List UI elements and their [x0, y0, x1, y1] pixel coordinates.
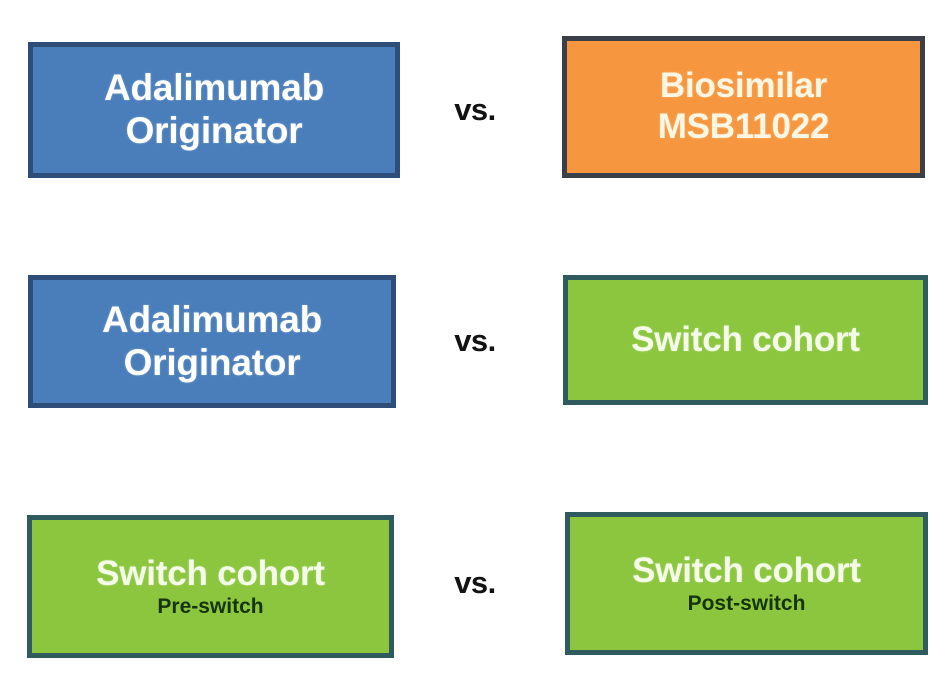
comparison-row-2: Adalimumab Originator vs. Switch cohort: [0, 230, 945, 470]
box-label-line1: Switch cohort: [631, 320, 860, 361]
box-label-line1: Switch cohort: [96, 554, 325, 595]
comparison-diagram: Adalimumab Originator vs. Biosimilar MSB…: [0, 0, 945, 688]
box-adalimumab-originator-1: Adalimumab Originator: [28, 42, 400, 178]
box-label-line1: Switch cohort: [632, 551, 861, 592]
box-switch-cohort-2: Switch cohort: [563, 275, 928, 405]
vs-separator-2: vs.: [420, 323, 530, 359]
box-sublabel-pre-switch: Pre-switch: [157, 595, 263, 619]
box-label-line1: Adalimumab: [102, 299, 322, 342]
vs-separator-1: vs.: [420, 92, 530, 128]
box-adalimumab-originator-2: Adalimumab Originator: [28, 275, 396, 408]
box-label-line1: Biosimilar: [660, 66, 827, 107]
box-sublabel-post-switch: Post-switch: [688, 592, 806, 616]
box-biosimilar-msb11022: Biosimilar MSB11022: [562, 36, 925, 178]
box-label-line2: MSB11022: [658, 107, 830, 148]
comparison-row-3: Switch cohort Pre-switch vs. Switch coho…: [0, 470, 945, 688]
box-label-line2: Originator: [124, 342, 301, 385]
box-switch-cohort-post-switch: Switch cohort Post-switch: [565, 512, 928, 655]
box-label-line2: Originator: [126, 110, 303, 153]
box-switch-cohort-pre-switch: Switch cohort Pre-switch: [27, 515, 394, 658]
comparison-row-1: Adalimumab Originator vs. Biosimilar MSB…: [0, 0, 945, 230]
box-label-line1: Adalimumab: [104, 67, 324, 110]
vs-separator-3: vs.: [420, 565, 530, 601]
